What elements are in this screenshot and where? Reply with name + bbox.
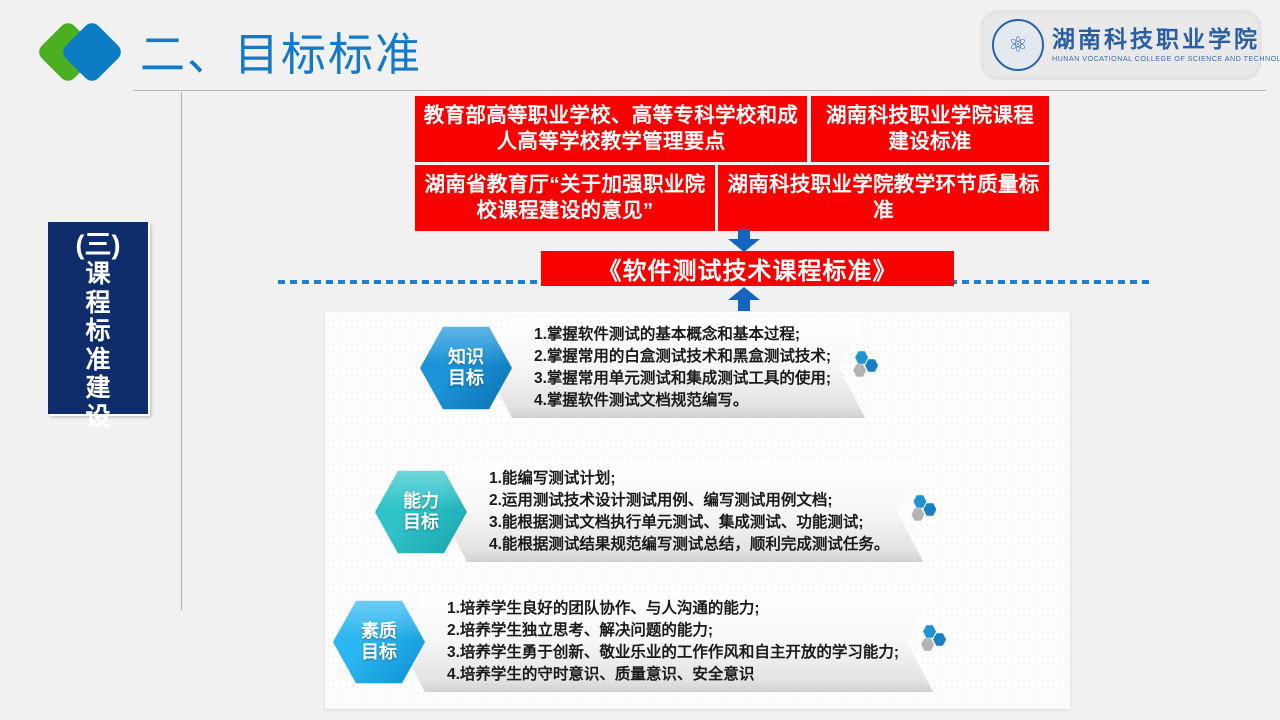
goal-item: 3.培养学生勇于创新、敬业乐业的工作作风和自主开放的学习能力; (447, 642, 899, 664)
goal-item-list: 1.培养学生良好的团队协作、与人沟通的能力; 2.培养学生独立思考、解决问题的能… (447, 598, 899, 687)
goal-row-knowledge: 知识 目标 1.掌握软件测试的基本概念和基本过程; 2.掌握常用的白盒测试技术和… (420, 318, 883, 418)
hex-dot-grey-icon (853, 364, 866, 377)
goal-item: 3.能根据测试文档执行单元测试、集成测试、功能测试; (489, 512, 889, 534)
arrow-down-icon (727, 229, 761, 253)
school-logo: ⚛ 湖南科技职业学院 HUNAN VOCATIONAL COLLEGE OF S… (984, 14, 1258, 76)
goal-item: 1.掌握软件测试的基本概念和基本过程; (534, 324, 831, 346)
goal-item: 1.培养学生良好的团队协作、与人沟通的能力; (447, 598, 899, 620)
reference-box-2: 湖南科技职业学院课程建设标准 (811, 96, 1049, 162)
school-seal-icon: ⚛ (992, 19, 1044, 71)
goal-label-line1: 能力 (403, 491, 439, 512)
goal-ribbon: 1.掌握软件测试的基本概念和基本过程; 2.掌握常用的白盒测试技术和黑盒测试技术… (486, 318, 865, 418)
goal-item: 1.能编写测试计划; (489, 468, 889, 490)
arrow-up-icon (727, 286, 761, 312)
goal-item-list: 1.能编写测试计划; 2.运用测试技术设计测试用例、编写测试用例文档; 3.能根… (489, 468, 889, 557)
hexagon-icon: 素质 目标 (333, 599, 425, 685)
section-number: (三) (76, 230, 121, 260)
school-name-cn: 湖南科技职业学院 (1052, 28, 1280, 52)
reference-box-3: 湖南省教育厅“关于加强职业院校课程建设的意见” (415, 165, 715, 231)
hex-dots-decoration (907, 495, 941, 529)
section-side-banner: (三) 课 程 标 准 建 设 (48, 222, 148, 414)
goal-hex-badge-knowledge: 知识 目标 (420, 325, 512, 411)
goal-row-ability: 能力 目标 1.能编写测试计划; 2.运用测试技术设计测试用例、编写测试用例文档… (375, 462, 941, 562)
hex-dots-decoration (917, 625, 951, 659)
goal-ribbon: 1.能编写测试计划; 2.运用测试技术设计测试用例、编写测试用例文档; 3.能根… (441, 462, 923, 562)
section-char-3: 准 (85, 346, 110, 375)
school-name-group: 湖南科技职业学院 HUNAN VOCATIONAL COLLEGE OF SCI… (1052, 28, 1280, 63)
goal-item: 2.培养学生独立思考、解决问题的能力; (447, 620, 899, 642)
page-title: 二、目标标准 (140, 18, 422, 83)
goal-item: 4.掌握软件测试文档规范编写。 (534, 390, 831, 412)
hex-dot-blue-icon (923, 503, 936, 516)
goal-hex-badge-ability: 能力 目标 (375, 469, 467, 555)
section-char-0: 课 (85, 260, 110, 289)
reference-box-1: 教育部高等职业学校、高等专科学校和成人高等学校教学管理要点 (415, 96, 807, 162)
reference-box-4: 湖南科技职业学院教学环节质量标准 (718, 165, 1049, 231)
goal-label-line1: 素质 (361, 621, 397, 642)
header-divider (133, 90, 1266, 91)
course-standard-banner: 《软件测试技术课程标准》 (541, 251, 954, 286)
section-char-5: 设 (85, 403, 110, 432)
hex-dots-decoration (849, 351, 883, 385)
goal-hex-badge-quality: 素质 目标 (333, 599, 425, 685)
goal-label-line1: 知识 (448, 347, 484, 368)
goal-item: 4.培养学生的守时意识、质量意识、安全意识 (447, 664, 899, 686)
goal-label-line2: 目标 (403, 512, 439, 533)
hex-dot-grey-icon (911, 508, 924, 521)
hexagon-icon: 知识 目标 (420, 325, 512, 411)
goal-item-list: 1.掌握软件测试的基本概念和基本过程; 2.掌握常用的白盒测试技术和黑盒测试技术… (534, 324, 831, 413)
hex-dot-blue-icon (923, 625, 936, 638)
double-diamond-logo-icon (45, 19, 121, 85)
goal-label-line2: 目标 (448, 368, 484, 389)
goal-item: 4.能根据测试结果规范编写测试总结，顺利完成测试任务。 (489, 534, 889, 556)
goal-label-line2: 目标 (361, 642, 397, 663)
school-name-en: HUNAN VOCATIONAL COLLEGE OF SCIENCE AND … (1052, 55, 1280, 63)
goal-ribbon: 1.培养学生良好的团队协作、与人沟通的能力; 2.培养学生独立思考、解决问题的能… (399, 592, 933, 692)
section-char-1: 程 (85, 289, 110, 318)
hexagon-icon: 能力 目标 (375, 469, 467, 555)
slide-canvas: 二、目标标准 ⚛ 湖南科技职业学院 HUNAN VOCATIONAL COLLE… (0, 0, 1280, 720)
goal-item: 3.掌握常用单元测试和集成测试工具的使用; (534, 368, 831, 390)
goal-item: 2.掌握常用的白盒测试技术和黑盒测试技术; (534, 346, 831, 368)
hex-dot-blue-icon (913, 495, 926, 508)
content-vertical-divider (181, 92, 182, 610)
hex-dot-blue-icon (865, 359, 878, 372)
hex-dot-blue-icon (855, 351, 868, 364)
hex-dot-grey-icon (921, 638, 934, 651)
section-char-2: 标 (85, 317, 110, 346)
hex-dot-blue-icon (933, 633, 946, 646)
section-char-4: 建 (85, 374, 110, 403)
goal-row-quality: 素质 目标 1.培养学生良好的团队协作、与人沟通的能力; 2.培养学生独立思考、… (333, 592, 951, 692)
goal-item: 2.运用测试技术设计测试用例、编写测试用例文档; (489, 490, 889, 512)
